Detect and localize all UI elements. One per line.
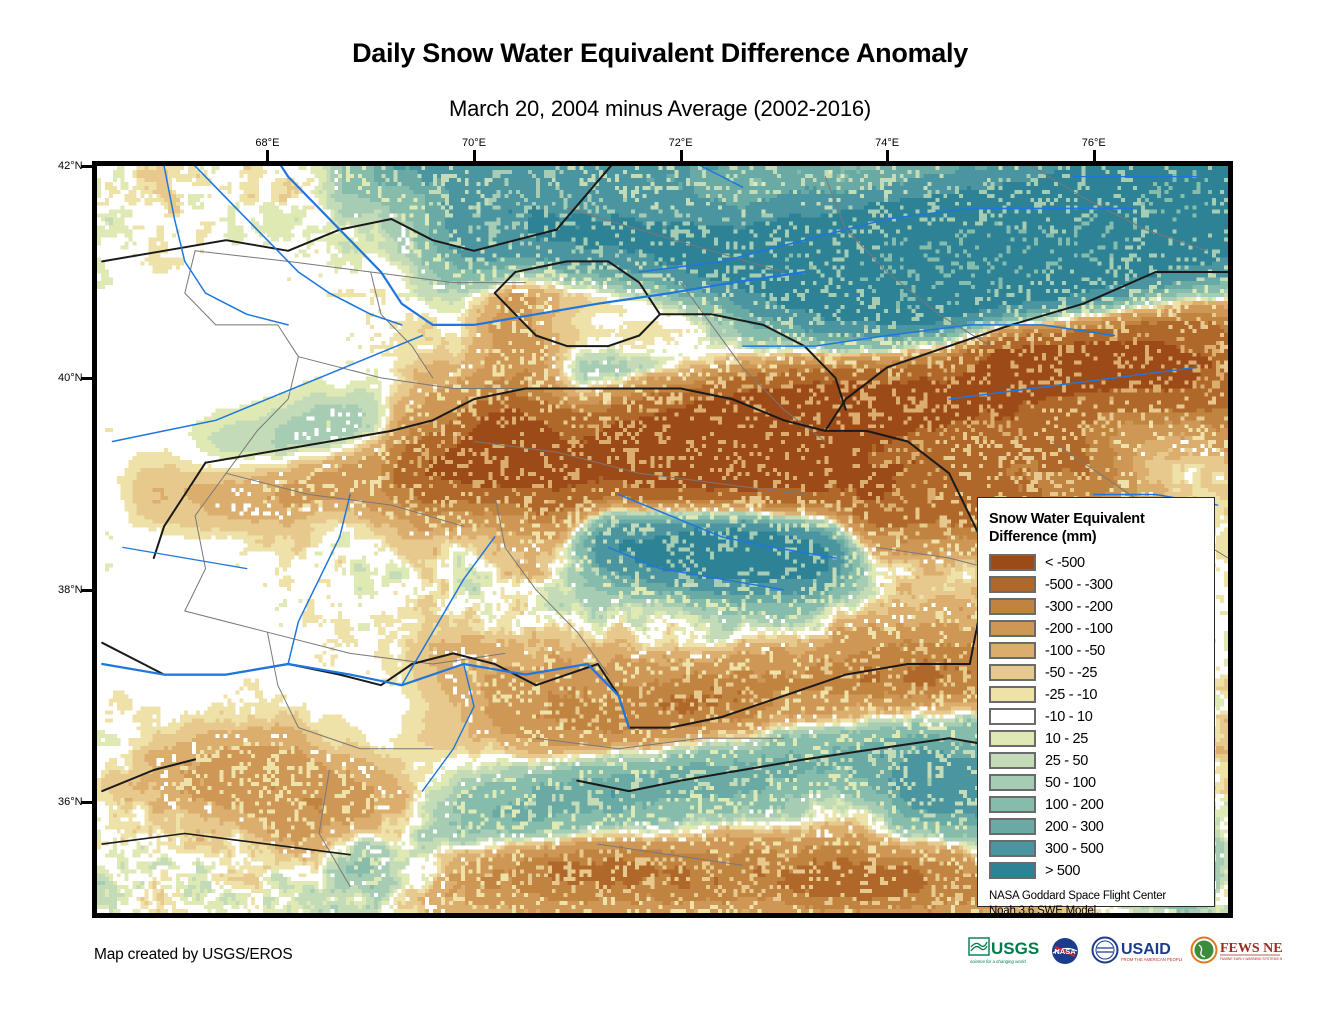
legend-row: -25 - -10 <box>989 684 1204 706</box>
x-tick-mark-2 <box>680 150 683 161</box>
legend-row: -200 - -100 <box>989 618 1204 640</box>
legend-label: -100 - -50 <box>1045 643 1105 659</box>
country-border-uz-kg-fergana <box>495 261 660 346</box>
legend-row: 300 - 500 <box>989 838 1204 860</box>
x-tick-label-3: 74°E <box>875 137 899 149</box>
legend-row: -10 - 10 <box>989 706 1204 728</box>
usgs-logo: USGSscience for a changing world <box>968 935 1040 967</box>
legend-label: -300 - -200 <box>1045 599 1113 615</box>
legend-class-list: < -500-500 - -300-300 - -200-200 - -100-… <box>989 552 1204 882</box>
country-border-af-pk <box>577 738 949 791</box>
x-tick-mark-0 <box>266 150 269 161</box>
admin-border-uz-west <box>185 251 299 611</box>
legend-row: -300 - -200 <box>989 596 1204 618</box>
legend-title-line2: Difference (mm) <box>989 528 1204 546</box>
legend-swatch <box>989 796 1036 813</box>
legend-swatch <box>989 818 1036 835</box>
legend-label: 300 - 500 <box>1045 841 1104 857</box>
legend-row: 50 - 100 <box>989 772 1204 794</box>
legend-swatch <box>989 554 1036 571</box>
legend-source-note: NASA Goddard Space Flight Center Noah 3.… <box>989 889 1204 920</box>
admin-border-tj-gbao-west <box>474 442 805 495</box>
legend-row: 25 - 50 <box>989 750 1204 772</box>
y-tick-label-0: 42°N <box>58 160 83 172</box>
svg-text:FAMINE EARLY WARNING SYSTEMS N: FAMINE EARLY WARNING SYSTEMS NETWORK <box>1220 957 1282 961</box>
legend-row: -500 - -300 <box>989 574 1204 596</box>
x-tick-label-4: 76°E <box>1082 137 1106 149</box>
x-tick-label-0: 68°E <box>255 137 279 149</box>
admin-border-pk-north <box>598 844 743 865</box>
legend-label: 50 - 100 <box>1045 775 1096 791</box>
river-zeravshan <box>113 336 423 442</box>
x-tick-label-2: 72°E <box>669 137 693 149</box>
legend-swatch <box>989 730 1036 747</box>
legend-row: -100 - -50 <box>989 640 1204 662</box>
country-border-af-south <box>102 834 350 855</box>
river-gunt <box>608 547 784 589</box>
country-border-uz-kz <box>102 219 556 261</box>
legend-label: -25 - -10 <box>1045 687 1097 703</box>
admin-border-kg-naryn <box>825 177 990 347</box>
nasa-logo: NASA <box>1048 935 1082 967</box>
admin-border-fergana-south <box>298 357 618 389</box>
country-border-tj-north <box>206 389 826 463</box>
legend-row: 10 - 25 <box>989 728 1204 750</box>
x-tick-mark-4 <box>1093 150 1096 161</box>
svg-text:science for a changing world: science for a changing world <box>970 959 1026 964</box>
legend-swatch <box>989 862 1036 879</box>
river-bartang <box>619 495 836 559</box>
legend-row: > 500 <box>989 860 1204 882</box>
page-title: Daily Snow Water Equivalent Difference A… <box>0 38 1320 69</box>
legend-label: 200 - 300 <box>1045 819 1104 835</box>
legend-label: 100 - 200 <box>1045 797 1104 813</box>
y-tick-label-3: 36°N <box>58 796 83 808</box>
legend-source-line1: NASA Goddard Space Flight Center <box>989 889 1204 905</box>
admin-border-kg-osh <box>681 283 826 442</box>
svg-text:FEWS NET: FEWS NET <box>1220 941 1282 956</box>
legend-row: 100 - 200 <box>989 794 1204 816</box>
country-border-af-west <box>102 759 195 791</box>
svg-text:USGS: USGS <box>991 939 1039 958</box>
country-border-kg-cn <box>825 272 1228 431</box>
y-tick-label-1: 40°N <box>58 372 83 384</box>
legend-label: -10 - 10 <box>1045 709 1093 725</box>
map-legend: Snow Water Equivalent Difference (mm) < … <box>977 497 1215 907</box>
page-subtitle: March 20, 2004 minus Average (2002-2016) <box>0 96 1320 122</box>
river-naryn <box>639 208 1135 272</box>
map-credit: Map created by USGS/EROS <box>94 946 293 964</box>
legend-swatch <box>989 752 1036 769</box>
legend-swatch <box>989 664 1036 681</box>
country-border-uz-kg-east <box>660 314 846 409</box>
river-kafirnigan <box>288 495 350 665</box>
legend-label: -500 - -300 <box>1045 577 1113 593</box>
fewsnet-logo: FEWS NETFAMINE EARLY WARNING SYSTEMS NET… <box>1190 935 1282 967</box>
admin-border-uz-north <box>195 251 525 283</box>
legend-swatch <box>989 708 1036 725</box>
legend-title-line1: Snow Water Equivalent <box>989 510 1204 528</box>
svg-text:FROM THE AMERICAN PEOPLE: FROM THE AMERICAN PEOPLE <box>1121 957 1182 962</box>
legend-row: 200 - 300 <box>989 816 1204 838</box>
country-border-tj-uz-west <box>154 463 206 558</box>
admin-border-tj-gbao-south <box>495 495 609 675</box>
svg-text:NASA: NASA <box>1054 947 1076 956</box>
legend-swatch <box>989 686 1036 703</box>
legend-row: < -500 <box>989 552 1204 574</box>
legend-swatch <box>989 598 1036 615</box>
x-tick-mark-1 <box>473 150 476 161</box>
legend-title: Snow Water Equivalent Difference (mm) <box>989 510 1204 547</box>
legend-row: -50 - -25 <box>989 662 1204 684</box>
legend-swatch <box>989 774 1036 791</box>
river-amu-darya-panj <box>102 664 629 728</box>
river-chirchiq <box>195 166 402 325</box>
legend-label: -200 - -100 <box>1045 621 1113 637</box>
admin-border-af-north <box>185 611 505 664</box>
usaid-logo: USAIDFROM THE AMERICAN PEOPLE <box>1090 935 1182 967</box>
river-kunduz <box>422 664 474 791</box>
legend-label: 25 - 50 <box>1045 753 1088 769</box>
y-tick-label-2: 38°N <box>58 584 83 596</box>
country-border-tj-cn <box>825 431 990 664</box>
legend-swatch <box>989 576 1036 593</box>
legend-label: -50 - -25 <box>1045 665 1097 681</box>
x-tick-label-1: 70°E <box>462 137 486 149</box>
admin-border-af-badakhshan <box>536 738 784 749</box>
legend-label: < -500 <box>1045 555 1085 571</box>
admin-border-kg-talas <box>567 208 784 272</box>
legend-swatch <box>989 840 1036 857</box>
river-syr-darya <box>267 166 804 325</box>
legend-swatch <box>989 620 1036 637</box>
x-tick-mark-3 <box>886 150 889 161</box>
agency-logo-row: USGSscience for a changing worldNASAUSAI… <box>968 934 1282 968</box>
river-zeravshan-lower <box>164 166 288 325</box>
legend-swatch <box>989 642 1036 659</box>
river-kashkadarya <box>123 547 247 568</box>
legend-source-line2: Noah 3.6 SWE Model. <box>989 904 1204 920</box>
admin-border-af-central <box>319 770 350 887</box>
legend-label: 10 - 25 <box>1045 731 1088 747</box>
svg-text:USAID: USAID <box>1121 941 1171 958</box>
river-taushkan <box>949 367 1197 399</box>
legend-label: > 500 <box>1045 863 1080 879</box>
